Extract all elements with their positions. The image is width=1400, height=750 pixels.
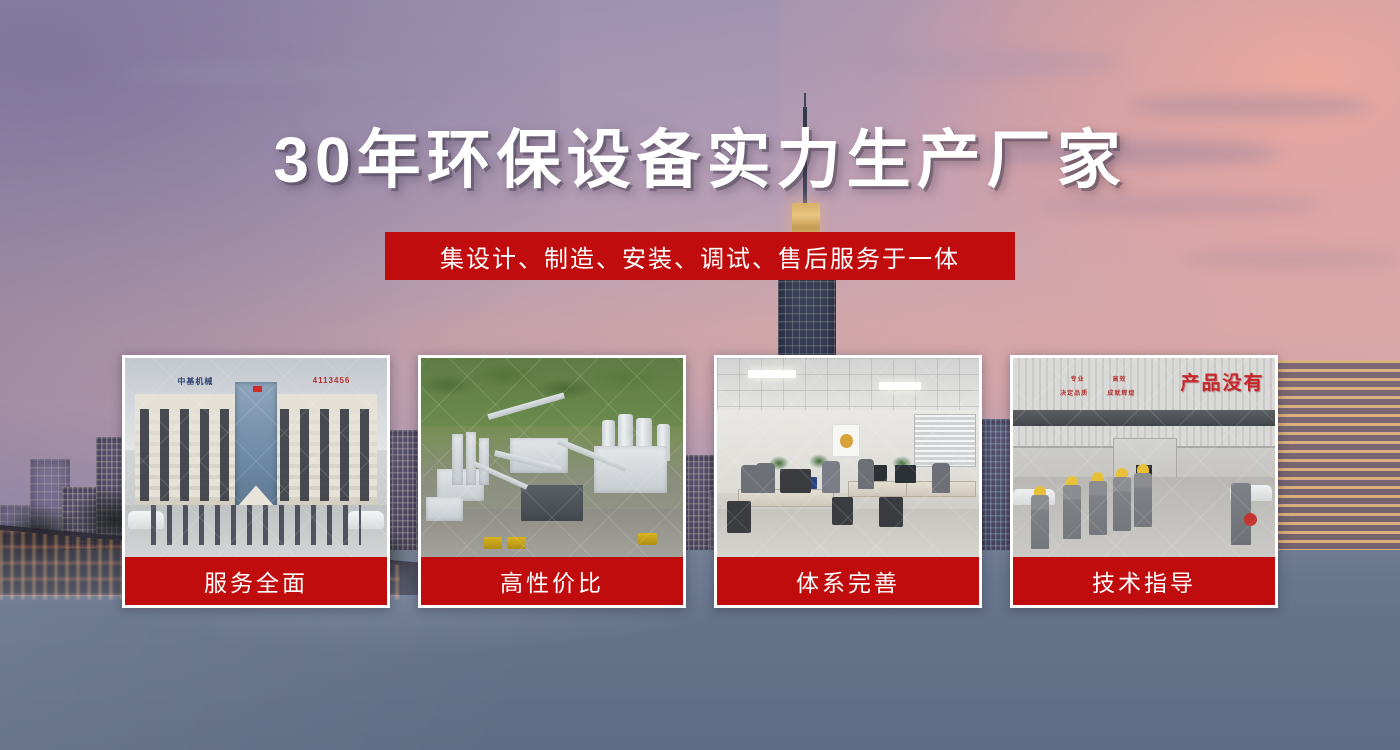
feature-card[interactable]: 产品没有 专业 高效 决定品质 成就辉煌	[1010, 355, 1278, 608]
industrial-plant-aerial-photo	[421, 358, 683, 557]
factory-wall-slogan-small: 成就辉煌	[1107, 388, 1135, 397]
feature-card[interactable]: 体系完善	[714, 355, 982, 608]
promo-banner: 30年环保设备实力生产厂家 集设计、制造、安装、调试、售后服务于一体 中基机械 …	[0, 0, 1400, 750]
card-label: 服务全面	[125, 557, 387, 605]
factory-wall-slogan-small: 决定品质	[1060, 388, 1088, 397]
factory-wall-slogan-small: 专业	[1071, 374, 1085, 383]
feature-card[interactable]: 中基机械 4113456 服务全面	[122, 355, 390, 608]
staff-lineup	[151, 505, 361, 545]
company-office-building-photo: 中基机械 4113456	[125, 358, 387, 557]
card-label: 高性价比	[421, 557, 683, 605]
card-label: 技术指导	[1013, 557, 1275, 605]
feature-card[interactable]: 高性价比	[418, 355, 686, 608]
feature-card-row: 中基机械 4113456 服务全面	[122, 355, 1278, 608]
supervisor-figure	[1231, 483, 1251, 545]
card-label: 体系完善	[717, 557, 979, 605]
subtitle-text: 集设计、制造、安装、调试、售后服务于一体	[440, 239, 960, 274]
factory-wall-slogan-small: 高效	[1113, 374, 1127, 383]
page-title: 30年环保设备实力生产厂家	[0, 128, 1400, 192]
subtitle-banner: 集设计、制造、安装、调试、售后服务于一体	[385, 232, 1015, 280]
factory-yard-workers-photo: 产品没有 专业 高效 决定品质 成就辉煌	[1013, 358, 1275, 557]
building-signage-text: 中基机械	[177, 376, 213, 387]
building-phone-text: 4113456	[313, 376, 351, 385]
factory-wall-slogan: 产品没有	[1181, 368, 1265, 395]
office-interior-photo	[717, 358, 979, 557]
